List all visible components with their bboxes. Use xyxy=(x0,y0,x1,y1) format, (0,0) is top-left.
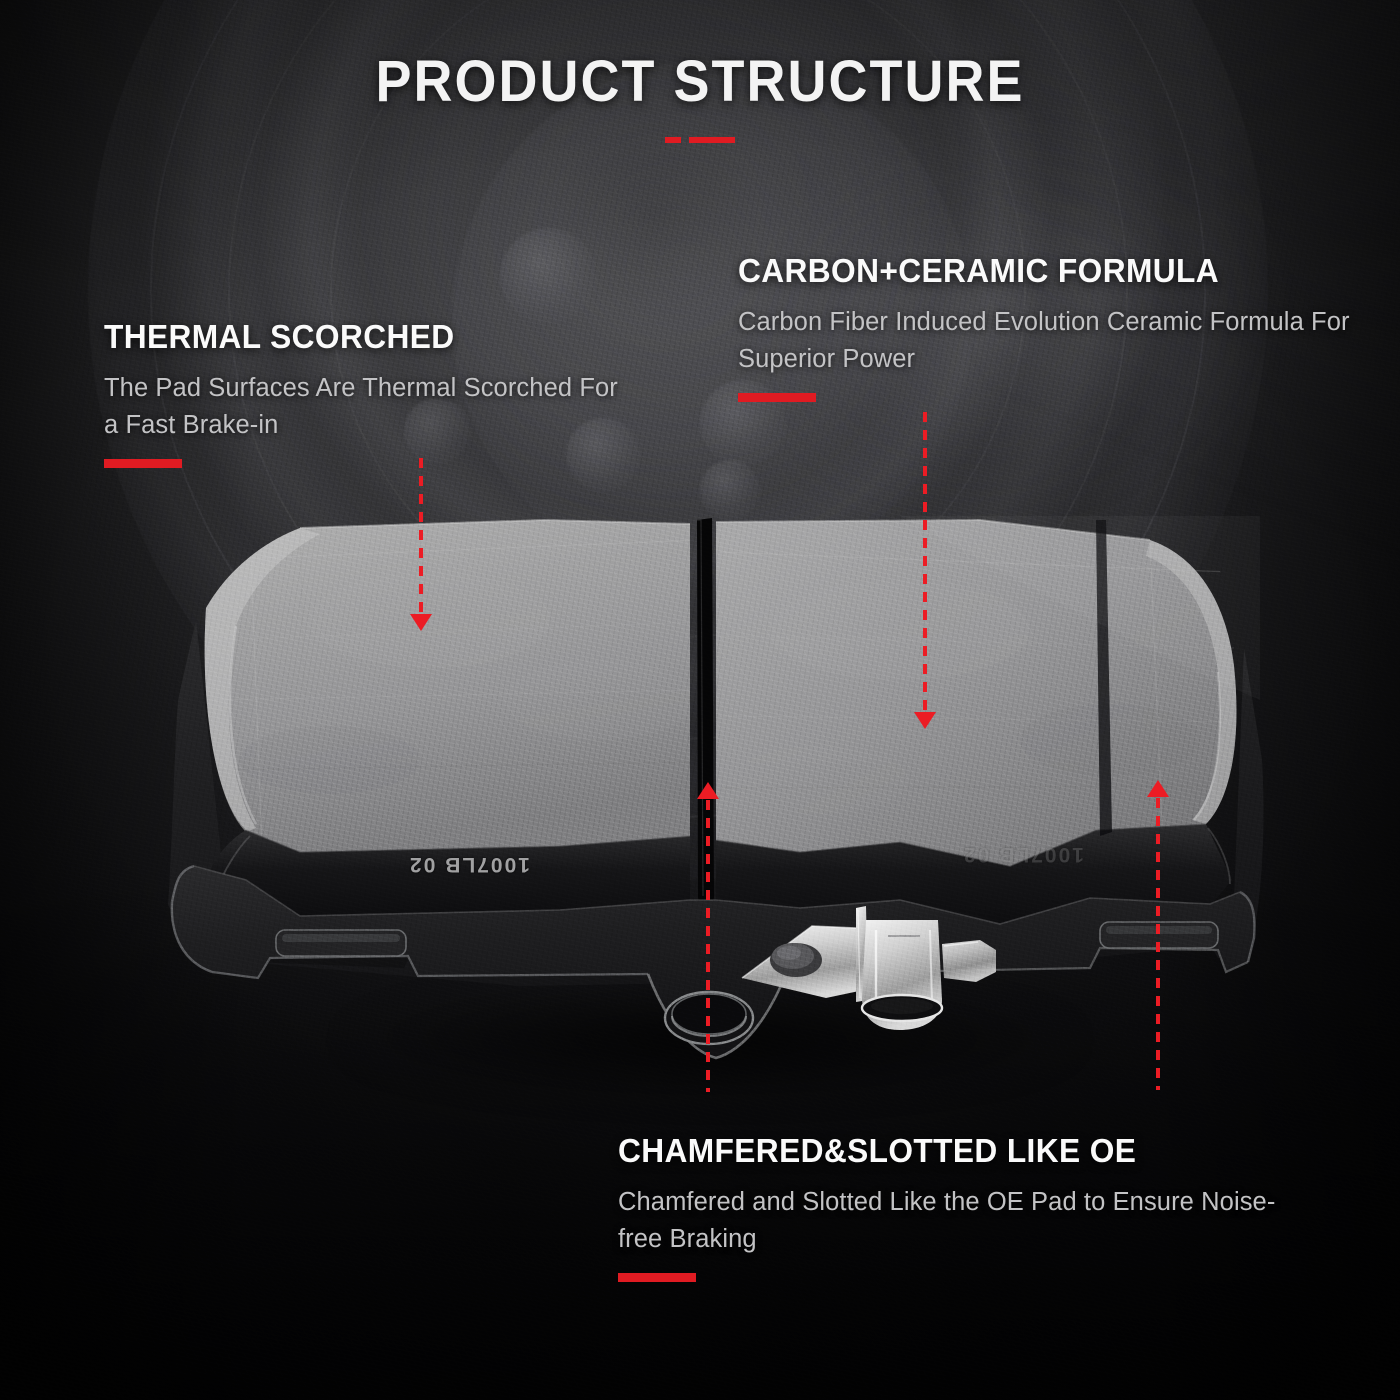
callout-carbon-ceramic-formula: CARBON+CERAMIC FORMULA Carbon Fiber Indu… xyxy=(738,252,1378,402)
plate-tab-left xyxy=(276,930,406,956)
callout-chamfered-slotted: CHAMFERED&SLOTTED LIKE OE Chamfered and … xyxy=(618,1132,1298,1282)
arrow-carbon-ceramic-formula xyxy=(919,412,931,734)
title-dash-short xyxy=(665,137,681,143)
arrow-thermal-scorched xyxy=(415,458,427,634)
callout-title-formula: CARBON+CERAMIC FORMULA xyxy=(738,252,1352,290)
callout-body-thermal: The Pad Surfaces Are Thermal Scorched Fo… xyxy=(104,370,624,443)
page-title-block: PRODUCT STRUCTURE xyxy=(0,48,1400,143)
callout-body-chamfered: Chamfered and Slotted Like the OE Pad to… xyxy=(618,1184,1298,1257)
arrow-slot-center xyxy=(702,782,714,1094)
product-structure-infographic: 1007LB 02 1007LB 02 PRODUCT STRUCTURE TH… xyxy=(0,0,1400,1400)
callout-body-formula: Carbon Fiber Induced Evolution Ceramic F… xyxy=(738,304,1378,377)
page-title: PRODUCT STRUCTURE xyxy=(49,48,1351,115)
callout-title-chamfered: CHAMFERED&SLOTTED LIKE OE xyxy=(618,1132,1271,1170)
title-accent-dashes xyxy=(0,137,1400,143)
pad-marking-right: 1007LB 02 xyxy=(962,842,1084,866)
callout-rule-formula xyxy=(738,393,816,402)
callout-rule-chamfered xyxy=(618,1273,696,1282)
callout-rule-thermal xyxy=(104,459,182,468)
arrow-chamfer-edge xyxy=(1152,780,1164,1092)
title-dash-long xyxy=(689,137,735,143)
callout-title-thermal: THERMAL SCORCHED xyxy=(104,318,603,356)
callout-thermal-scorched: THERMAL SCORCHED The Pad Surfaces Are Th… xyxy=(104,318,624,468)
pad-marking-left: 1007LB 02 xyxy=(408,852,530,876)
